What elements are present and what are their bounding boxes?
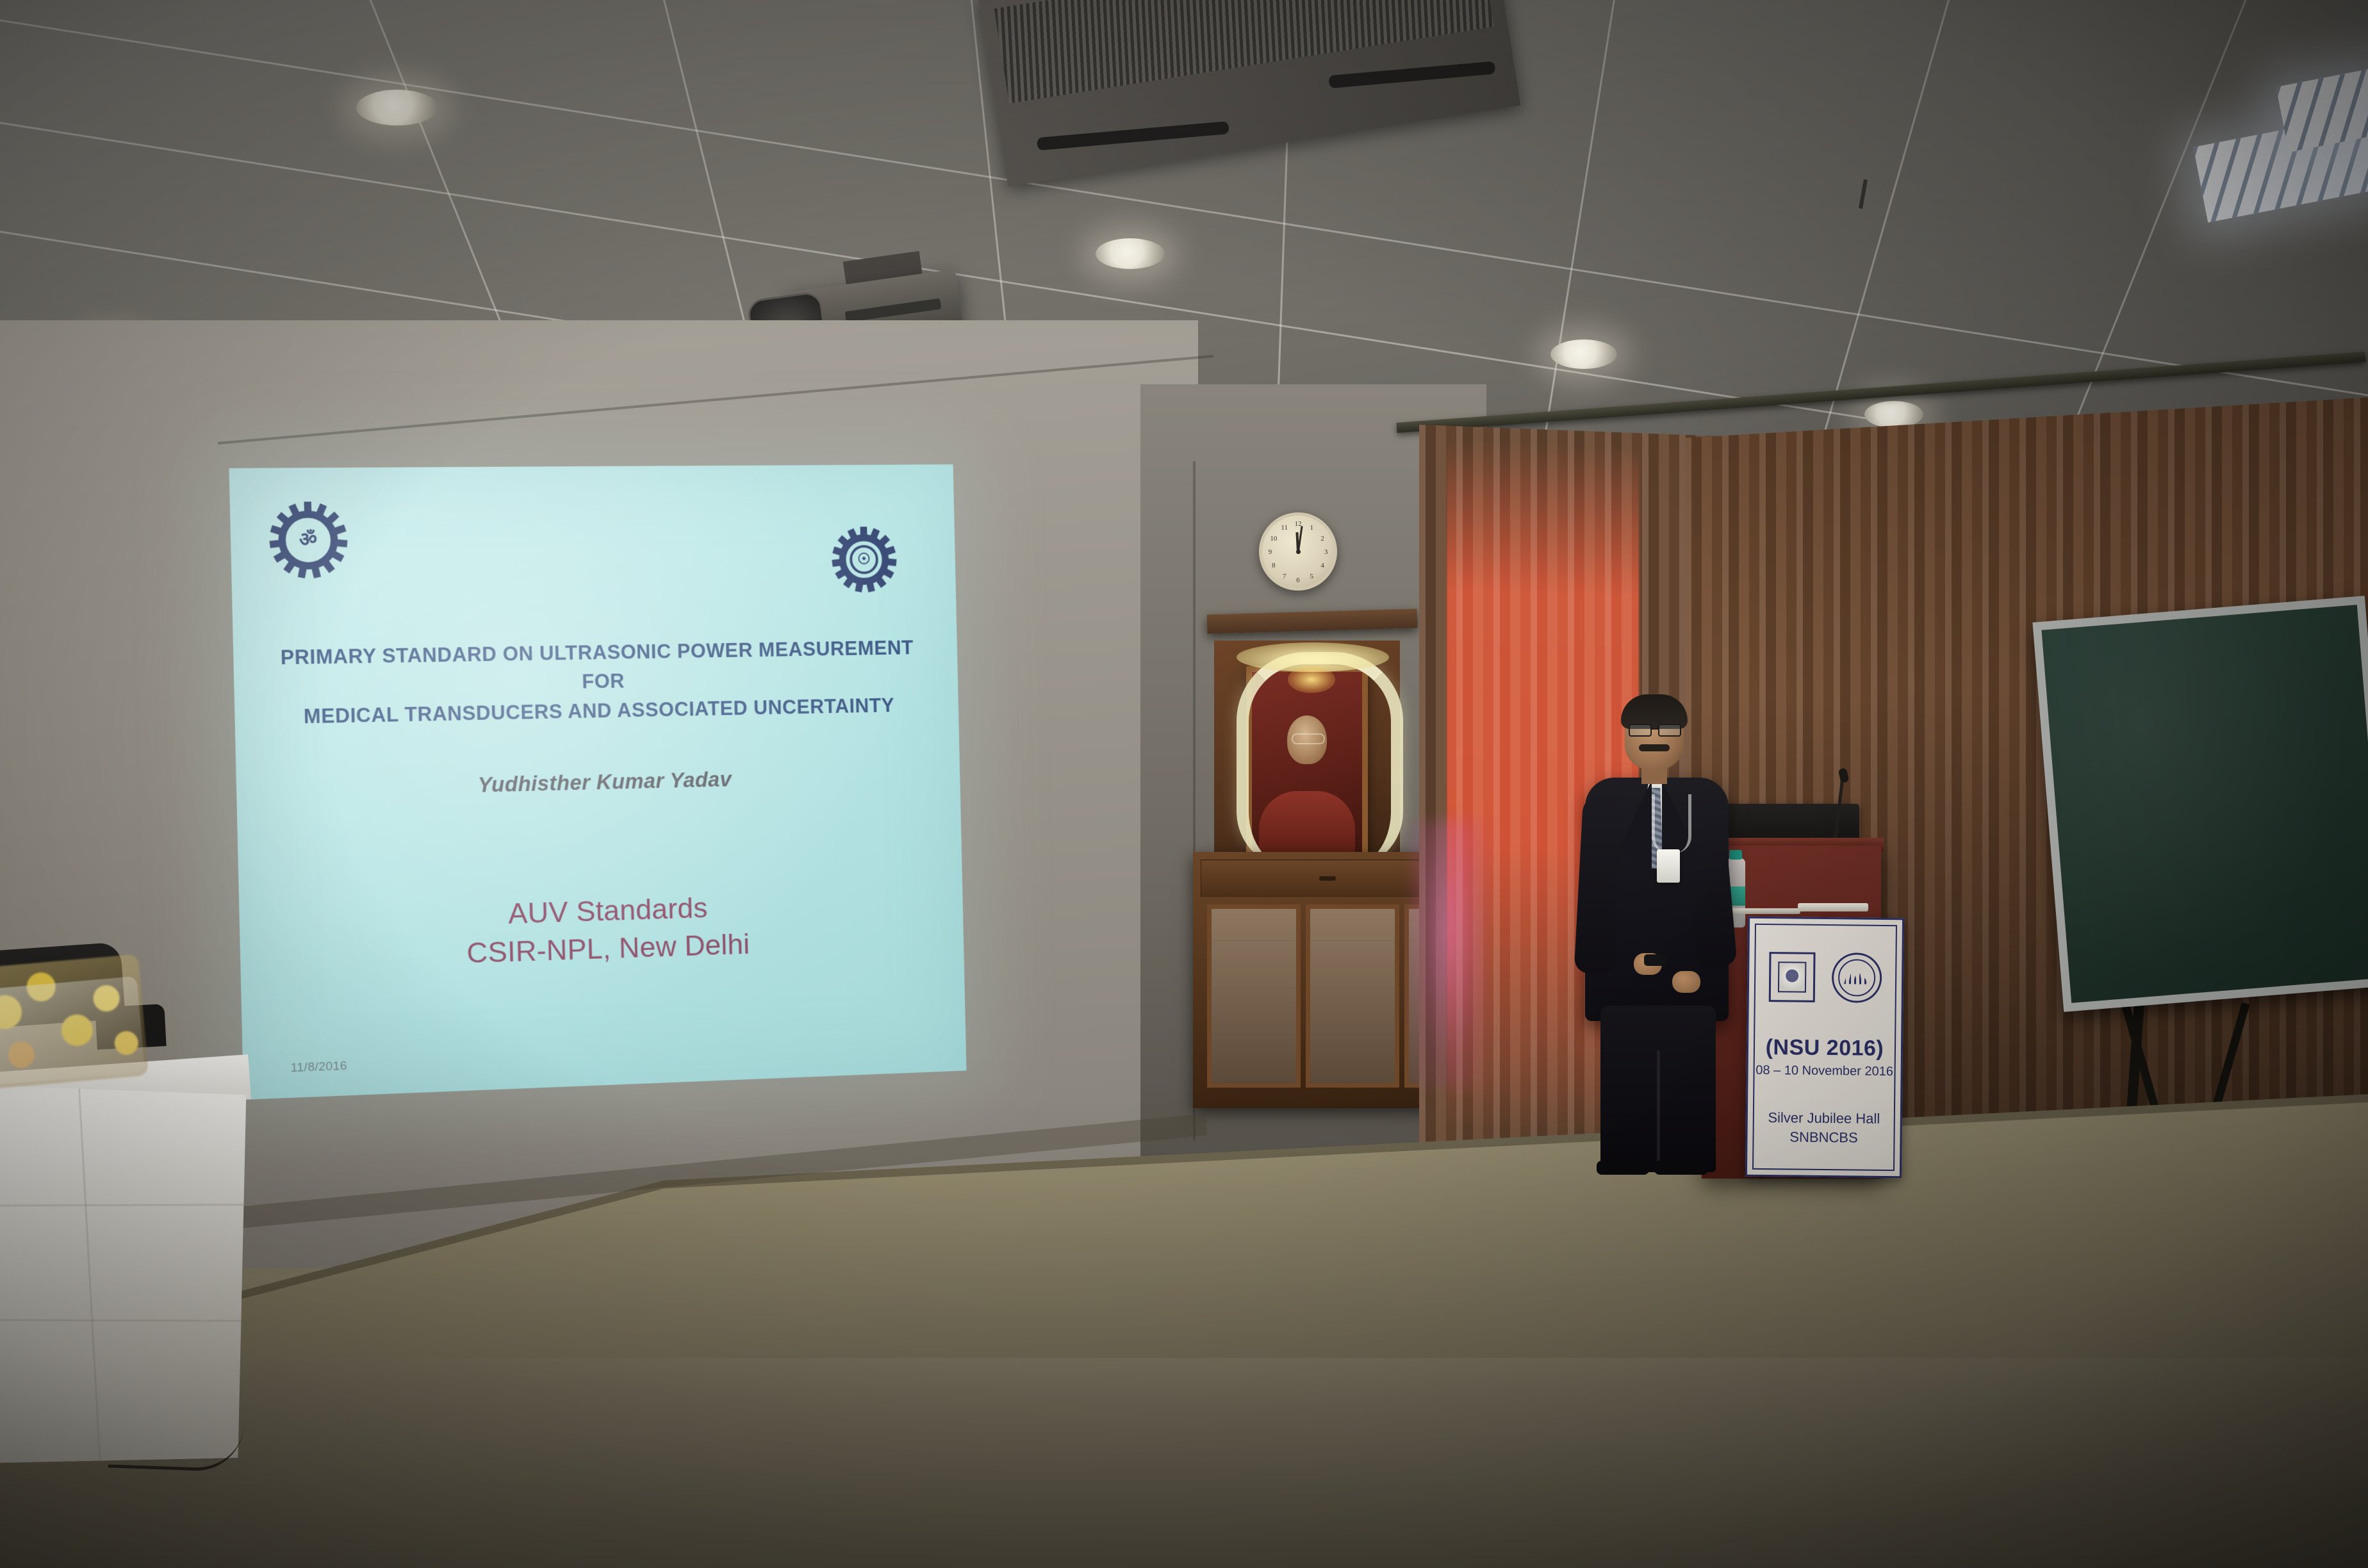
green-board-surface[interactable]: [2032, 596, 2368, 1012]
tablecloth-fold: [0, 1319, 251, 1321]
gear-icon: ॐ: [268, 502, 348, 579]
presenter: [1583, 698, 1743, 1166]
cabinet-glass-door[interactable]: [1207, 904, 1301, 1088]
presentation-clicker[interactable]: [1644, 954, 1666, 966]
projector-band: [844, 298, 941, 323]
ceiling-downlight: [356, 90, 438, 126]
sign-conference-code: (NSU 2016): [1748, 1035, 1901, 1061]
sign-conference-dates: 08 – 10 November 2016: [1748, 1063, 1900, 1079]
presenter-trousers: [1600, 1006, 1716, 1172]
presenter-shoe-left: [1597, 1161, 1649, 1175]
presenter-moustache: [1639, 744, 1670, 751]
crest-portrait-frame-icon: [1778, 961, 1807, 992]
ac-louver-grille: [994, 0, 1494, 104]
presenter-glasses: [1629, 724, 1681, 734]
garland-lamp-glow: [1288, 666, 1335, 693]
podium-conference-sign: (NSU 2016) 08 – 10 November 2016 Silver …: [1745, 917, 1904, 1179]
presenter-hand-right: [1672, 971, 1700, 993]
ceiling-downlight: [1550, 339, 1617, 369]
wall-clock: 12 1 2 3 4 5 6 7 8 9 10 11: [1259, 512, 1337, 591]
sign-logo-row: [1761, 952, 1891, 1003]
ultrasonics-society-of-india-logo: [1832, 952, 1882, 1003]
projection-screen: ॐ: [229, 464, 966, 1100]
presenter-lanyard: [1652, 794, 1691, 853]
sign-venue: Silver Jubilee Hall SNBNCBS: [1747, 1108, 1900, 1148]
clock-center-pin: [1296, 550, 1301, 554]
slide-surface: ॐ: [229, 464, 966, 1100]
gift-cellophane-wrap: [0, 976, 145, 1085]
csir-emblem-glyph: ॐ: [299, 530, 318, 550]
ceiling-downlight: [1096, 238, 1165, 269]
presenter-badge: [1657, 849, 1680, 883]
slide-title: PRIMARY STANDARD ON ULTRASONIC POWER MEA…: [274, 633, 921, 731]
csir-gear-logo: ॐ: [268, 502, 348, 579]
sign-venue-line-2: SNBNCBS: [1747, 1127, 1900, 1148]
green-board[interactable]: [2032, 596, 2368, 1012]
snbncbs-crest-logo: [1769, 952, 1816, 1002]
sign-venue-line-1: Silver Jubilee Hall: [1748, 1108, 1900, 1129]
drawer-knob[interactable]: [1319, 876, 1336, 881]
draped-side-table: [0, 1080, 254, 1463]
podium-ledge-item: [1798, 903, 1868, 911]
ac-vent-slot: [1037, 121, 1229, 151]
slide-author: Yudhisther Kumar Yadav: [236, 762, 960, 803]
conference-hall-photo: ॐ: [0, 0, 2368, 1568]
slide-affiliation: AUV Standards CSIR-NPL, New Delhi: [239, 881, 964, 980]
gear-icon: ☉: [831, 527, 897, 593]
tablecloth-fold: [78, 1083, 101, 1460]
cabinet-glass-door[interactable]: [1306, 904, 1399, 1088]
pink-accent-light: [1410, 820, 1486, 1089]
logo-inner-ring: [1838, 959, 1876, 997]
presenter-shoe-right: [1654, 1161, 1708, 1175]
slide-date-stamp: 11/8/2016: [290, 1059, 347, 1076]
ac-vent-slot: [1328, 61, 1495, 88]
npl-emblem-glyph: ☉: [857, 552, 871, 568]
tablecloth-fold: [0, 1204, 249, 1206]
npl-india-gear-logo: ☉: [831, 527, 897, 593]
